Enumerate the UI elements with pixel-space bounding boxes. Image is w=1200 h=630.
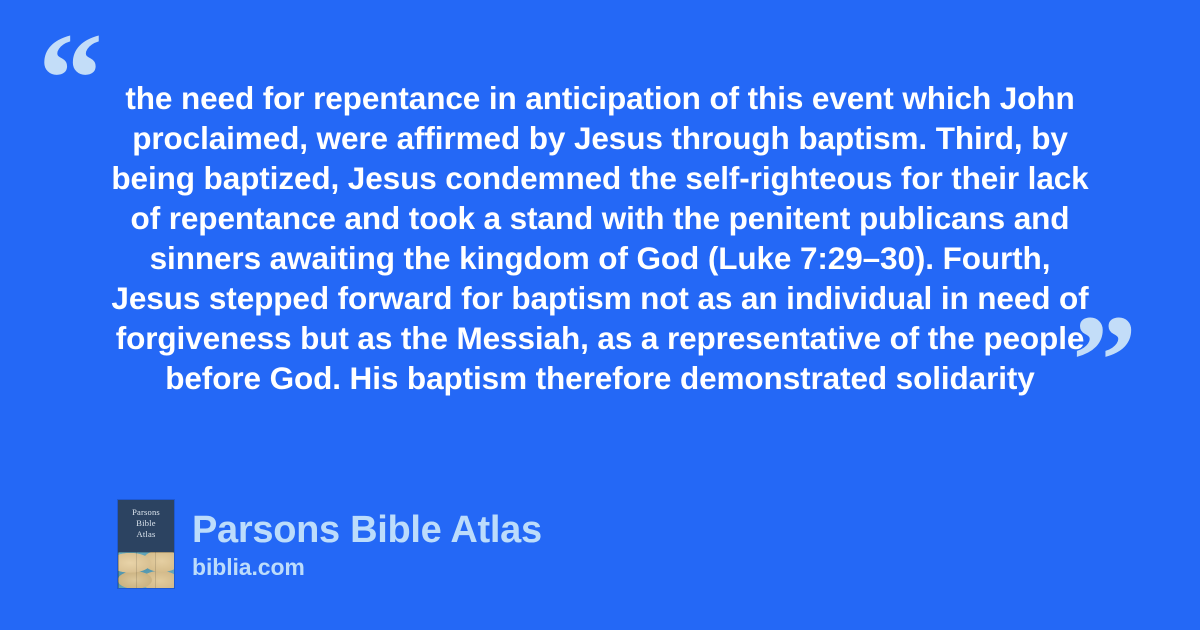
quote-line: forgiveness but as the Messiah, as a rep… (100, 318, 1100, 358)
source-url[interactable]: biblia.com (192, 554, 542, 581)
book-cover-thumbnail: Parsons Bible Atlas (118, 500, 174, 588)
map-collage-icon (118, 552, 174, 588)
open-quote-icon: “ (38, 14, 103, 144)
quote-line: the need for repentance in anticipation … (100, 78, 1100, 118)
quote-line: proclaimed, were affirmed by Jesus throu… (100, 118, 1100, 158)
source-title: Parsons Bible Atlas (192, 508, 542, 552)
quote-line: being baptized, Jesus condemned the self… (100, 158, 1100, 198)
quote-line: Jesus stepped forward for baptism not as… (100, 278, 1100, 318)
book-cover-title: Parsons Bible Atlas (118, 507, 174, 540)
book-cover-title-line: Parsons (118, 507, 174, 518)
quote-line: before God. His baptism therefore demons… (100, 358, 1100, 398)
attribution-text: Parsons Bible Atlas biblia.com (192, 508, 542, 581)
quote-card: “ the need for repentance in anticipatio… (0, 0, 1200, 630)
quote-line: of repentance and took a stand with the … (100, 198, 1100, 238)
quote-line: sinners awaiting the kingdom of God (Luk… (100, 238, 1100, 278)
book-cover-title-line: Bible (118, 518, 174, 529)
book-cover-title-line: Atlas (118, 529, 174, 540)
close-quote-icon: ” (1072, 296, 1137, 426)
quote-text: the need for repentance in anticipation … (100, 78, 1100, 398)
attribution: Parsons Bible Atlas Parsons Bible Atlas … (118, 500, 542, 588)
